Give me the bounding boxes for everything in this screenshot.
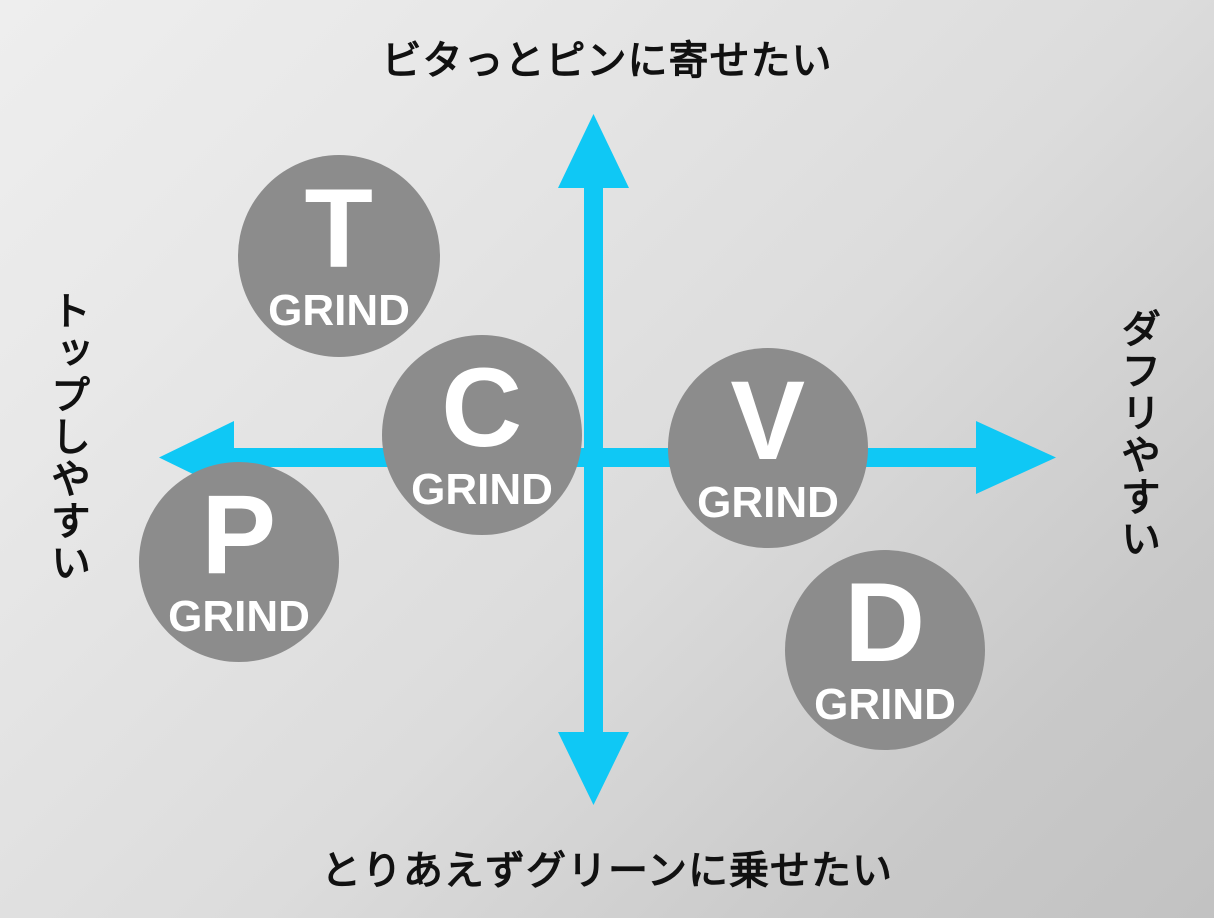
bubble-letter: T: [305, 173, 374, 285]
bubble-sublabel: GRIND: [814, 683, 956, 727]
axis-label-bottom: とりあえずグリーンに乗せたい: [0, 838, 1214, 896]
bubble-sublabel: GRIND: [411, 468, 553, 512]
axis-arrows-layer: [0, 0, 1214, 918]
right-arrow-head: [976, 421, 1056, 494]
bubble-sublabel: GRIND: [697, 481, 839, 525]
axis-label-left: トップしやすい: [38, 290, 96, 584]
bubble-c-grind[interactable]: C GRIND: [382, 335, 582, 535]
bubble-letter: V: [730, 365, 805, 477]
bubble-letter: P: [201, 479, 276, 591]
diagram-canvas: T GRIND C GRIND P GRIND V GRIND D GRIND …: [0, 0, 1214, 918]
bubble-letter: C: [441, 352, 522, 464]
bubble-v-grind[interactable]: V GRIND: [668, 348, 868, 548]
bubble-p-grind[interactable]: P GRIND: [139, 462, 339, 662]
axis-label-top: ビタっとピンに寄せたい: [0, 28, 1214, 86]
bubble-letter: D: [844, 567, 925, 679]
bubble-t-grind[interactable]: T GRIND: [238, 155, 440, 357]
axis-label-right: ダフリやすい: [1108, 308, 1166, 560]
bubble-d-grind[interactable]: D GRIND: [785, 550, 985, 750]
bubble-sublabel: GRIND: [268, 289, 410, 333]
bubble-sublabel: GRIND: [168, 595, 310, 639]
down-arrow-head: [558, 732, 629, 805]
up-arrow-head: [558, 114, 629, 188]
